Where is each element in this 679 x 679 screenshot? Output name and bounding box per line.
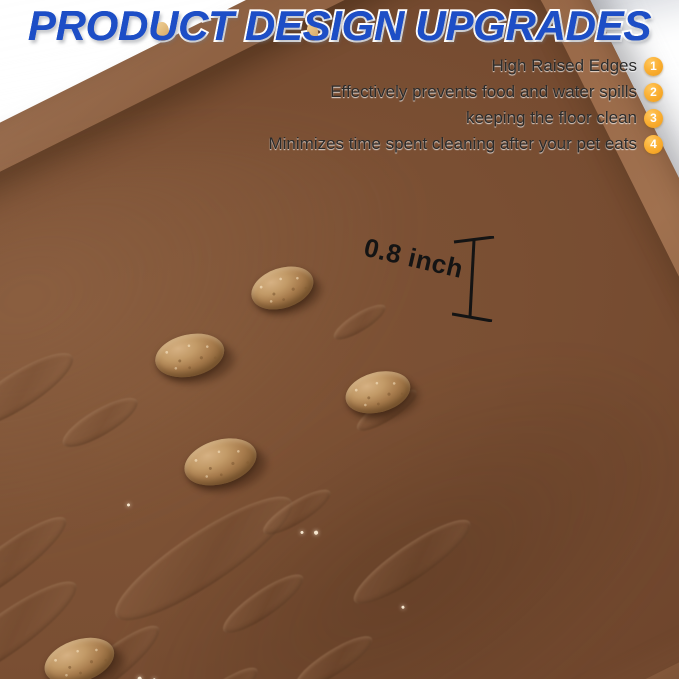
feature-number-badge: 2: [644, 83, 663, 102]
page-title-outline: PRODUCT DESIGN UPGRADES: [0, 4, 679, 48]
feature-text: Effectively prevents food and water spil…: [330, 82, 637, 102]
feature-list: High Raised Edges 1 Effectively prevents…: [103, 54, 663, 158]
feature-number-badge: 4: [644, 135, 663, 154]
feature-number-badge: 1: [644, 57, 663, 76]
product-marketing-image: PRODUCT DESIGN UPGRADES PRODUCT DESIGN U…: [0, 0, 679, 679]
feature-text: Minimizes time spent cleaning after your…: [268, 134, 637, 154]
feature-list-item: Minimizes time spent cleaning after your…: [103, 132, 663, 156]
feature-text: keeping the floor clean: [466, 108, 637, 128]
feature-list-item: High Raised Edges 1: [103, 54, 663, 78]
measure-caliper-icon: [452, 236, 496, 322]
feature-list-item: Effectively prevents food and water spil…: [103, 80, 663, 104]
feature-list-item: keeping the floor clean 3: [103, 106, 663, 130]
feature-number-badge: 3: [644, 109, 663, 128]
feature-text: High Raised Edges: [491, 56, 637, 76]
